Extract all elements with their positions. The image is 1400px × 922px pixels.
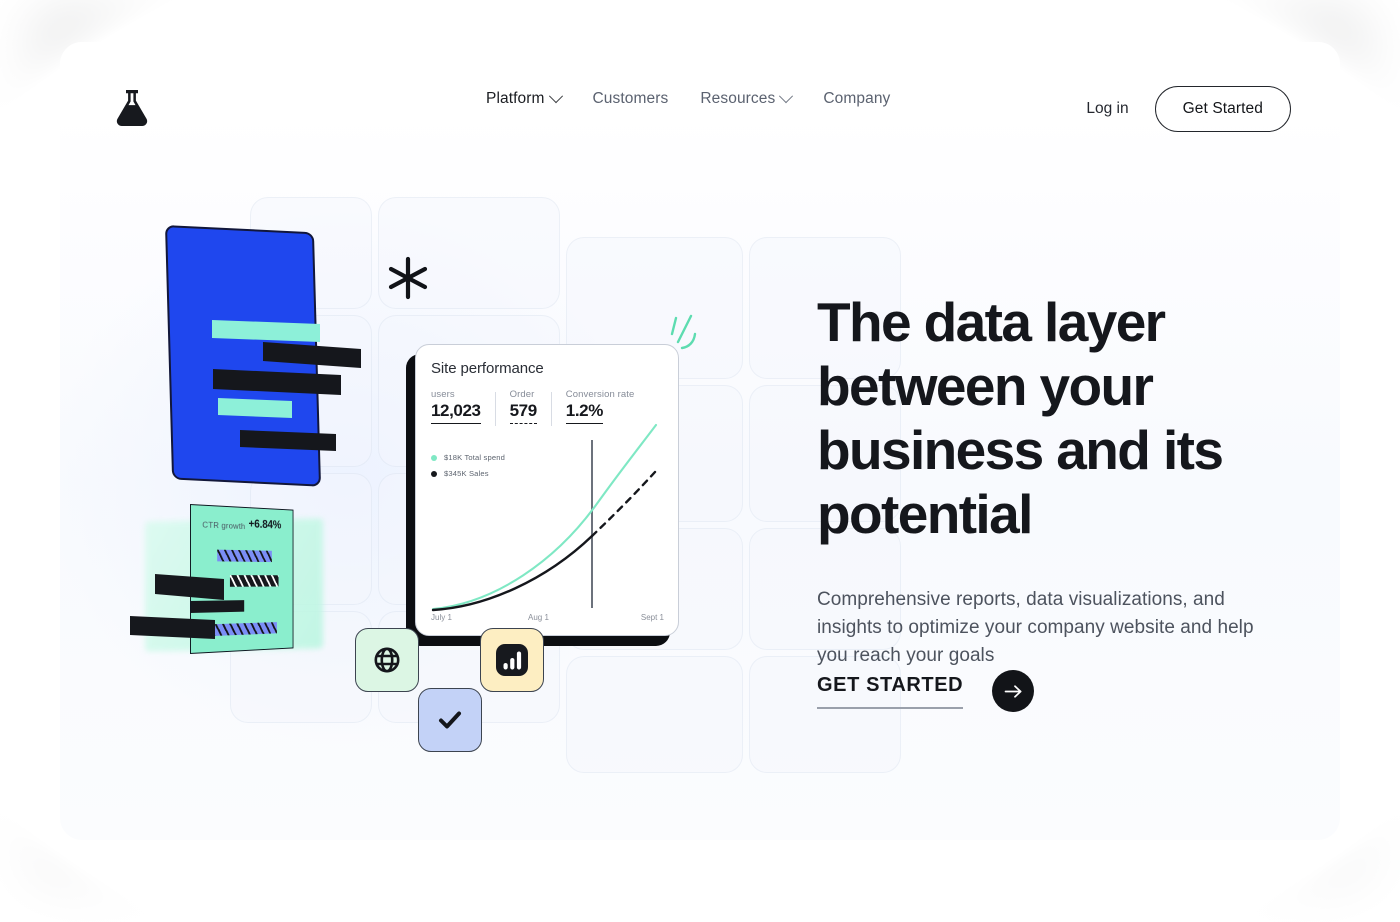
blue-card-bars	[140, 225, 440, 525]
main-nav: Platform Customers Resources Company	[470, 90, 906, 108]
nav-item-platform[interactable]: Platform	[470, 90, 577, 108]
bar-chart-icon	[495, 643, 529, 677]
arrow-right-icon	[1004, 684, 1023, 699]
page-title: The data layer between your business and…	[817, 290, 1287, 546]
tile-bar-chart[interactable]	[480, 628, 544, 692]
cta-arrow-button[interactable]	[992, 670, 1034, 712]
tile-globe[interactable]	[355, 628, 419, 692]
site-header: flask-icon Platform Customers Resources	[60, 42, 1340, 172]
get-started-link[interactable]: GET STARTED	[817, 674, 963, 709]
get-started-button[interactable]: Get Started	[1155, 86, 1291, 132]
nav-label: Platform	[486, 90, 545, 108]
nav-label: Customers	[593, 90, 669, 108]
hero-copy: The data layer between your business and…	[817, 290, 1287, 670]
flask-icon	[113, 87, 151, 127]
ctr-card-overhang-bars	[120, 504, 360, 674]
nav-item-resources[interactable]: Resources	[684, 90, 807, 108]
performance-line-chart	[416, 345, 678, 635]
nav-item-company[interactable]: Company	[807, 90, 906, 108]
hero-cta[interactable]: GET STARTED	[817, 670, 1034, 712]
axis-label: July 1	[431, 613, 452, 622]
screenshot-frame: flask-icon Platform Customers Resources	[0, 0, 1400, 922]
header-actions: Log in Get Started	[1080, 86, 1291, 132]
nav-label: Company	[823, 90, 890, 108]
axis-label: Aug 1	[528, 613, 549, 622]
check-icon	[436, 706, 464, 734]
tile-check[interactable]	[418, 688, 482, 752]
nav-item-customers[interactable]: Customers	[577, 90, 685, 108]
globe-icon	[372, 645, 402, 675]
site-performance-card: Site performance users 12,023 Order 579 …	[415, 344, 679, 636]
axis-label: Sept 1	[641, 613, 664, 622]
chevron-down-icon	[779, 89, 793, 103]
logo[interactable]: flask-icon	[110, 85, 154, 129]
chevron-down-icon	[548, 89, 562, 103]
hero-subheadline: Comprehensive reports, data visualizatio…	[817, 586, 1269, 670]
chart-axis-labels: July 1 Aug 1 Sept 1	[416, 613, 678, 627]
landing-page: flask-icon Platform Customers Resources	[60, 42, 1340, 840]
login-link[interactable]: Log in	[1080, 94, 1134, 124]
nav-label: Resources	[700, 90, 775, 108]
